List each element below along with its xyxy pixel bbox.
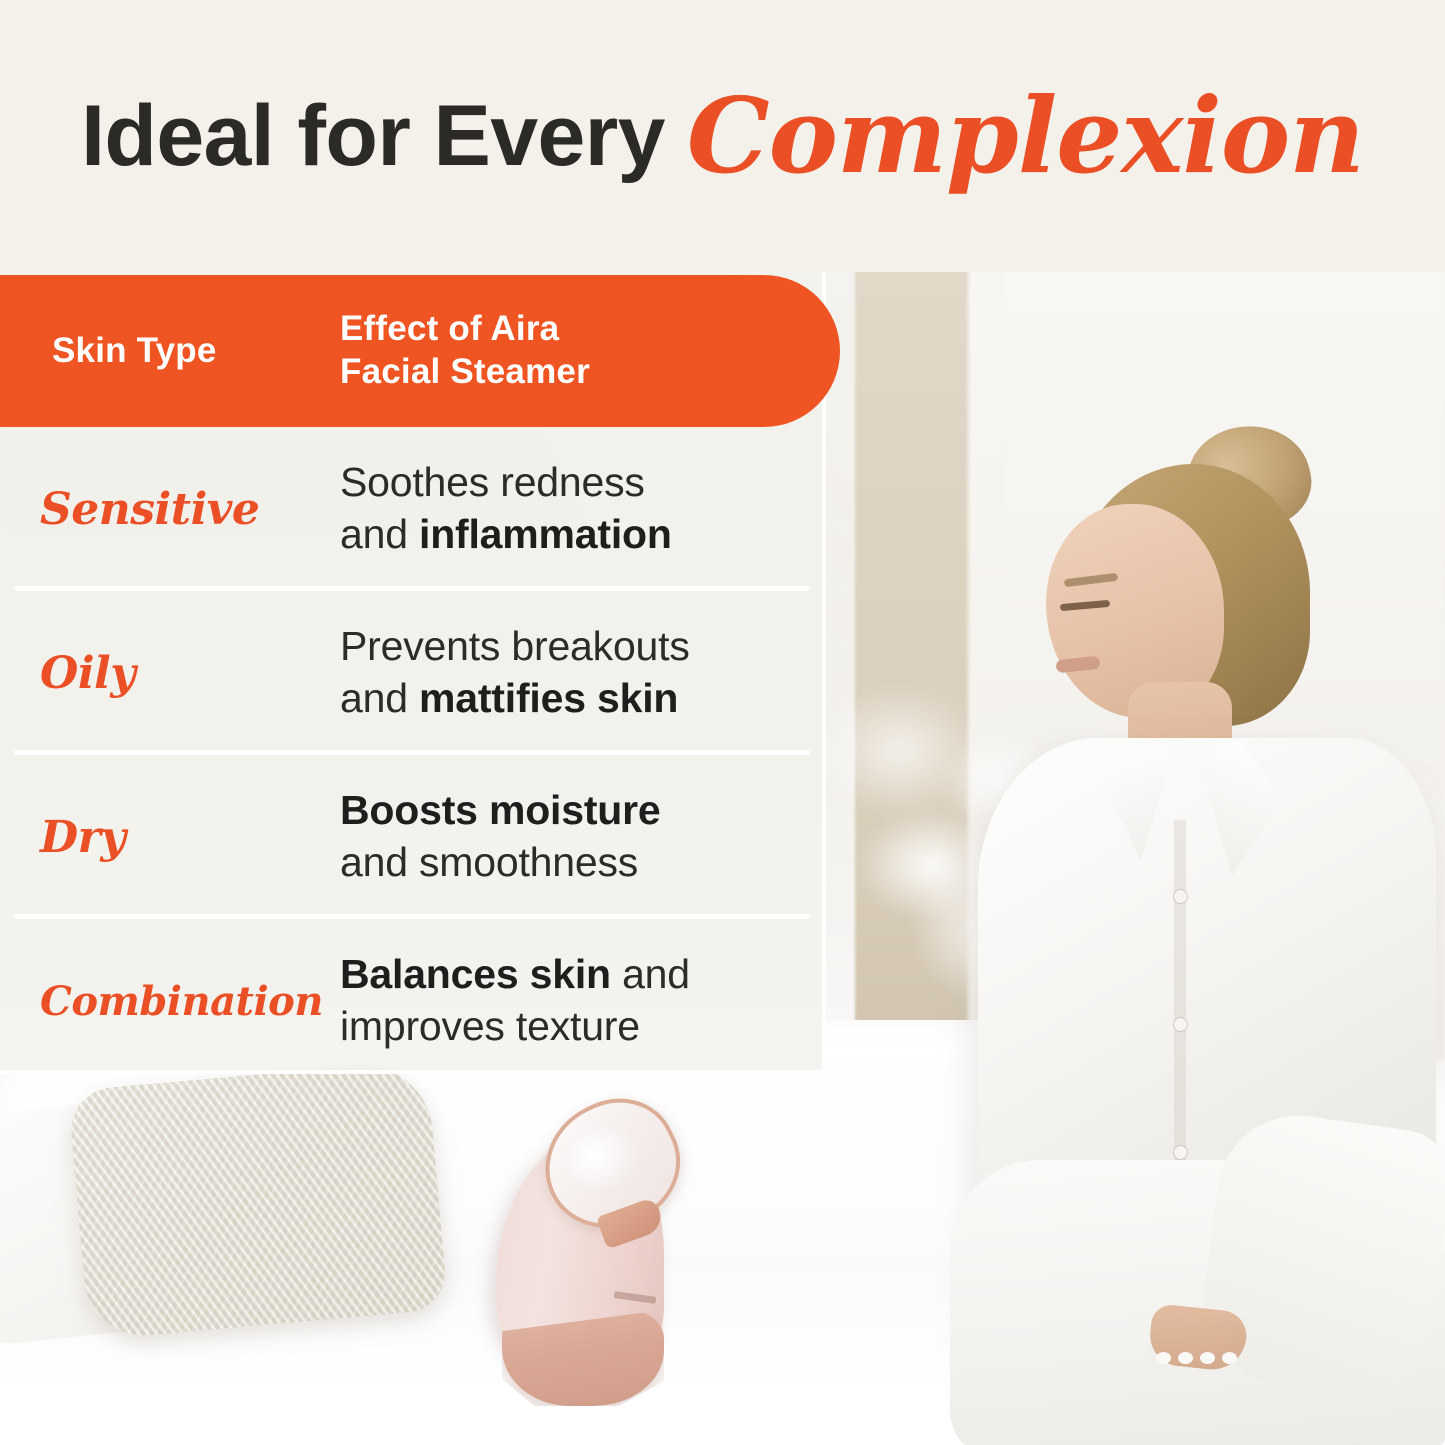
table-row: Oily Prevents breakouts and mattifies sk… bbox=[0, 591, 826, 755]
knit-cushion bbox=[68, 1060, 448, 1340]
row-effect-line1-bold: Balances skin bbox=[340, 951, 611, 997]
row-effect-line1-normal: Prevents breakouts bbox=[340, 623, 690, 669]
row-effect-line1-bold: Boosts moisture bbox=[340, 787, 661, 833]
row-effect-line2-bold: inflammation bbox=[419, 511, 672, 557]
row-skin-type: Sensitive bbox=[0, 484, 340, 535]
row-effect-line2: improves texture bbox=[340, 1001, 690, 1053]
row-effect-line2: and mattifies skin bbox=[340, 673, 690, 725]
row-effect-line1: Balances skin and bbox=[340, 949, 690, 1001]
row-effect-line2: and smoothness bbox=[340, 837, 661, 889]
table-header: Skin Type Effect of Aira Facial Steamer bbox=[0, 275, 840, 427]
row-skin-type: Oily bbox=[0, 648, 340, 699]
row-effect-line2-bold: mattifies skin bbox=[419, 675, 678, 721]
row-effect-line1: Prevents breakouts bbox=[340, 621, 690, 673]
row-effect: Balances skin and improves texture bbox=[340, 949, 690, 1052]
row-effect-line1: Soothes redness bbox=[340, 457, 672, 509]
row-effect-line2-normal: and smoothness bbox=[340, 839, 638, 885]
row-effect-line2-normal: and bbox=[340, 675, 419, 721]
table-row: Combination Balances skin and improves t… bbox=[0, 919, 826, 1083]
fingernail bbox=[1156, 1352, 1171, 1364]
facial-steamer-product bbox=[488, 1098, 678, 1388]
row-effect-line2-normal: and bbox=[340, 511, 419, 557]
fingernail bbox=[1200, 1352, 1215, 1364]
table-row: Sensitive Soothes redness and inflammati… bbox=[0, 427, 826, 591]
table-header-skin-type: Skin Type bbox=[0, 331, 340, 371]
headline-accent-text: Complexion bbox=[687, 84, 1364, 188]
row-effect: Soothes redness and inflammation bbox=[340, 457, 672, 560]
row-effect: Boosts moisture and smoothness bbox=[340, 785, 661, 888]
fingernail bbox=[1178, 1352, 1193, 1364]
woman-figure bbox=[960, 420, 1445, 1445]
row-effect-line1: Boosts moisture bbox=[340, 785, 661, 837]
row-skin-type: Dry bbox=[0, 812, 340, 863]
fingernail bbox=[1222, 1352, 1237, 1364]
page-title: Ideal for Every Complexion bbox=[0, 0, 1445, 272]
infographic-canvas: Ideal for Every Complexion Skin Type Eff… bbox=[0, 0, 1445, 1445]
shirt-button bbox=[1174, 1146, 1187, 1159]
row-effect: Prevents breakouts and mattifies skin bbox=[340, 621, 690, 724]
table-rows: Sensitive Soothes redness and inflammati… bbox=[0, 427, 826, 1083]
table-header-effect-line1: Effect of Aira bbox=[340, 308, 590, 351]
shirt-button bbox=[1174, 1018, 1187, 1031]
headline-plain-text: Ideal for Every bbox=[81, 87, 665, 186]
table-header-effect-line2: Facial Steamer bbox=[340, 351, 590, 394]
table-row: Dry Boosts moisture and smoothness bbox=[0, 755, 826, 919]
row-effect-line1-normal: Soothes redness bbox=[340, 459, 645, 505]
row-effect-line2-normal: improves texture bbox=[340, 1003, 640, 1049]
shirt-button bbox=[1174, 890, 1187, 903]
row-effect-line1-normal: and bbox=[611, 951, 690, 997]
table-header-effect: Effect of Aira Facial Steamer bbox=[340, 308, 590, 393]
row-effect-line2: and inflammation bbox=[340, 509, 672, 561]
row-skin-type: Combination bbox=[0, 978, 340, 1025]
